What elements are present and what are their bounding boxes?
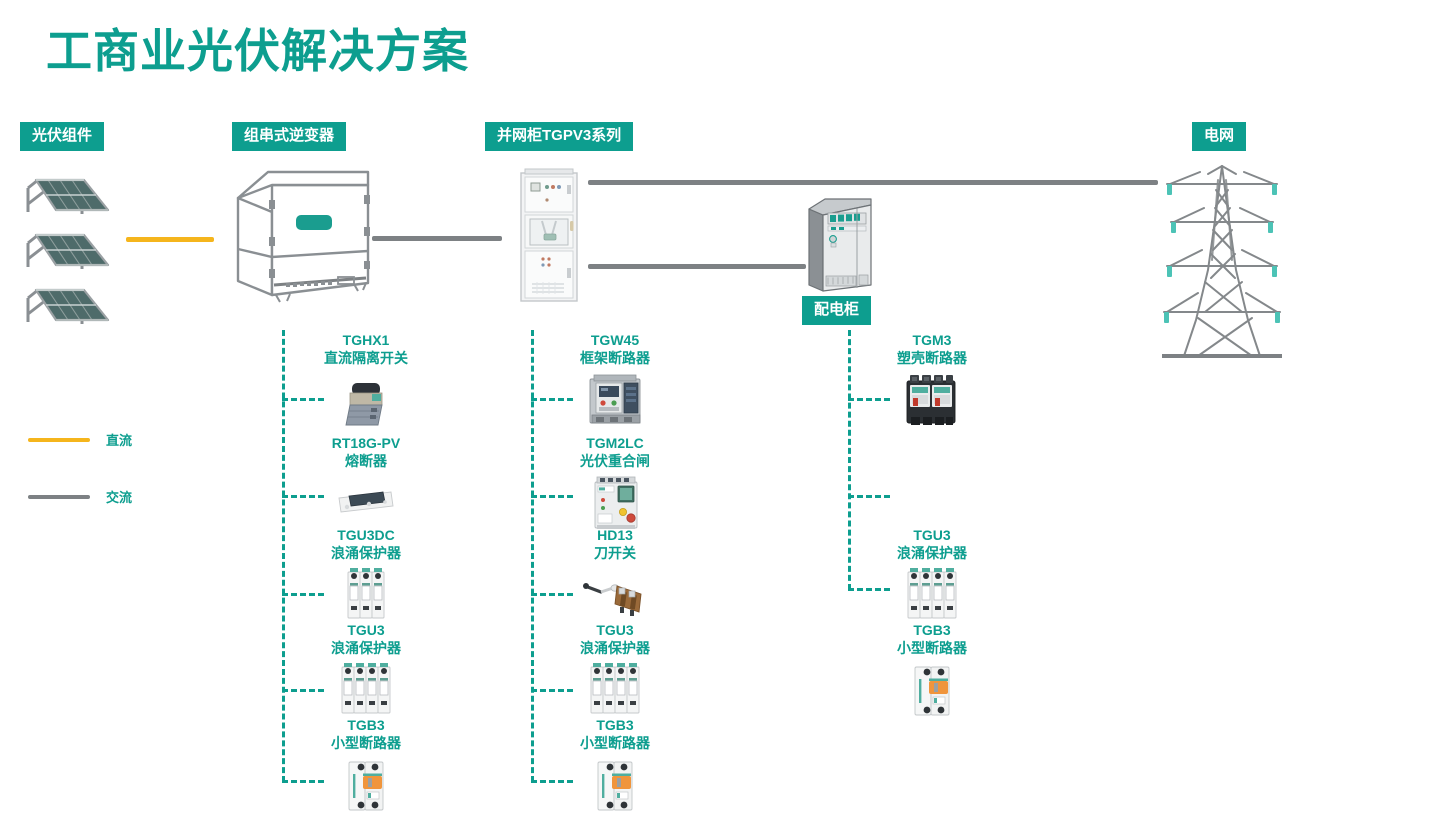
product-hd13[interactable]: HD13 刀开关	[535, 527, 695, 622]
product-name: 光伏重合闸	[535, 452, 695, 470]
surge-protector-4p-icon	[535, 659, 695, 717]
product-name: 直流隔离开关	[286, 349, 446, 367]
product-model: TGB3	[852, 622, 1012, 639]
product-name: 浪涌保护器	[286, 639, 446, 657]
product-name: 小型断路器	[286, 734, 446, 752]
tree-branch	[848, 495, 890, 498]
knife-switch-icon	[535, 564, 695, 622]
product-name: 塑壳断路器	[852, 349, 1012, 367]
surge-protector-4p-icon	[852, 564, 1012, 622]
inverter-cabinet	[230, 165, 380, 310]
product-tgu3dc[interactable]: TGU3DC 浪涌保护器	[286, 527, 446, 622]
section-badge-grid-cabinet: 并网柜TGPV3系列	[485, 122, 633, 151]
section-badge-pv-modules: 光伏组件	[20, 122, 104, 151]
miniature-circuit-breaker-icon	[286, 754, 446, 812]
product-tgb3[interactable]: TGB3 小型断路器	[535, 717, 695, 812]
legend: 直流 交流	[28, 430, 132, 506]
ac-connection-line-grid	[588, 180, 1158, 185]
legend-item-dc: 直流	[28, 430, 132, 449]
product-name: 刀开关	[535, 544, 695, 562]
section-badge-power-grid: 电网	[1192, 122, 1246, 151]
product-tgu3[interactable]: TGU3 浪涌保护器	[535, 622, 695, 717]
product-model: TGU3	[535, 622, 695, 639]
miniature-circuit-breaker-icon	[852, 659, 1012, 717]
legend-label-ac: 交流	[106, 487, 132, 506]
surge-protector-4p-icon	[286, 659, 446, 717]
product-name: 浪涌保护器	[852, 544, 1012, 562]
tree-stem-distribution	[848, 330, 851, 590]
product-tgb3[interactable]: TGB3 小型断路器	[286, 717, 446, 812]
product-model: TGM2LC	[535, 435, 695, 452]
product-tgw45[interactable]: TGW45 框架断路器	[535, 332, 695, 427]
product-name: 熔断器	[286, 452, 446, 470]
air-circuit-breaker-icon	[535, 369, 695, 427]
section-badge-string-inverter: 组串式逆变器	[232, 122, 346, 151]
switchgear-cabinet	[520, 167, 578, 307]
product-tgu3[interactable]: TGU3 浪涌保护器	[286, 622, 446, 717]
product-name: 小型断路器	[535, 734, 695, 752]
product-model: RT18G-PV	[286, 435, 446, 452]
product-name: 浪涌保护器	[286, 544, 446, 562]
legend-swatch-ac	[28, 495, 90, 499]
page-title: 工商业光伏解决方案	[46, 22, 469, 80]
miniature-circuit-breaker-icon	[535, 754, 695, 812]
dc-isolator-switch-icon	[286, 369, 446, 427]
product-model: HD13	[535, 527, 695, 544]
distribution-cabinet	[805, 195, 877, 300]
product-model: TGB3	[535, 717, 695, 734]
fuse-holder-icon	[286, 472, 446, 530]
legend-label-dc: 直流	[106, 430, 132, 449]
product-model: TGW45	[535, 332, 695, 349]
product-model: TGU3	[286, 622, 446, 639]
product-tgb3[interactable]: TGB3 小型断路器	[852, 622, 1012, 717]
product-tgu3[interactable]: TGU3 浪涌保护器	[852, 527, 1012, 622]
ac-connection-line-distribution	[588, 264, 806, 269]
solution-diagram: 工商业光伏解决方案 光伏组件 组串式逆变器 并网柜TGPV3系列 配电柜 电网	[0, 0, 1436, 829]
product-model: TGM3	[852, 332, 1012, 349]
ac-connection-line-inverter	[372, 236, 502, 241]
product-name: 小型断路器	[852, 639, 1012, 657]
surge-protector-3p-icon	[286, 564, 446, 622]
product-tghx1[interactable]: TGHX1 直流隔离开关	[286, 332, 446, 427]
solar-panel-array	[22, 168, 122, 338]
product-model: TGHX1	[286, 332, 446, 349]
product-tgm3[interactable]: TGM3 塑壳断路器	[852, 332, 1012, 427]
pv-recloser-icon	[535, 472, 695, 530]
product-model: TGU3	[852, 527, 1012, 544]
product-model: TGB3	[286, 717, 446, 734]
legend-swatch-dc	[28, 438, 90, 442]
legend-item-ac: 交流	[28, 487, 132, 506]
product-name: 框架断路器	[535, 349, 695, 367]
section-badge-distribution-cabinet: 配电柜	[802, 296, 871, 325]
power-transmission-tower	[1160, 160, 1284, 365]
dc-connection-line	[126, 237, 214, 242]
molded-case-circuit-breaker-icon	[852, 369, 1012, 427]
product-name: 浪涌保护器	[535, 639, 695, 657]
product-model: TGU3DC	[286, 527, 446, 544]
product-tgm2lc[interactable]: TGM2LC 光伏重合闸	[535, 435, 695, 530]
product-rt18g-pv[interactable]: RT18G-PV 熔断器	[286, 435, 446, 530]
